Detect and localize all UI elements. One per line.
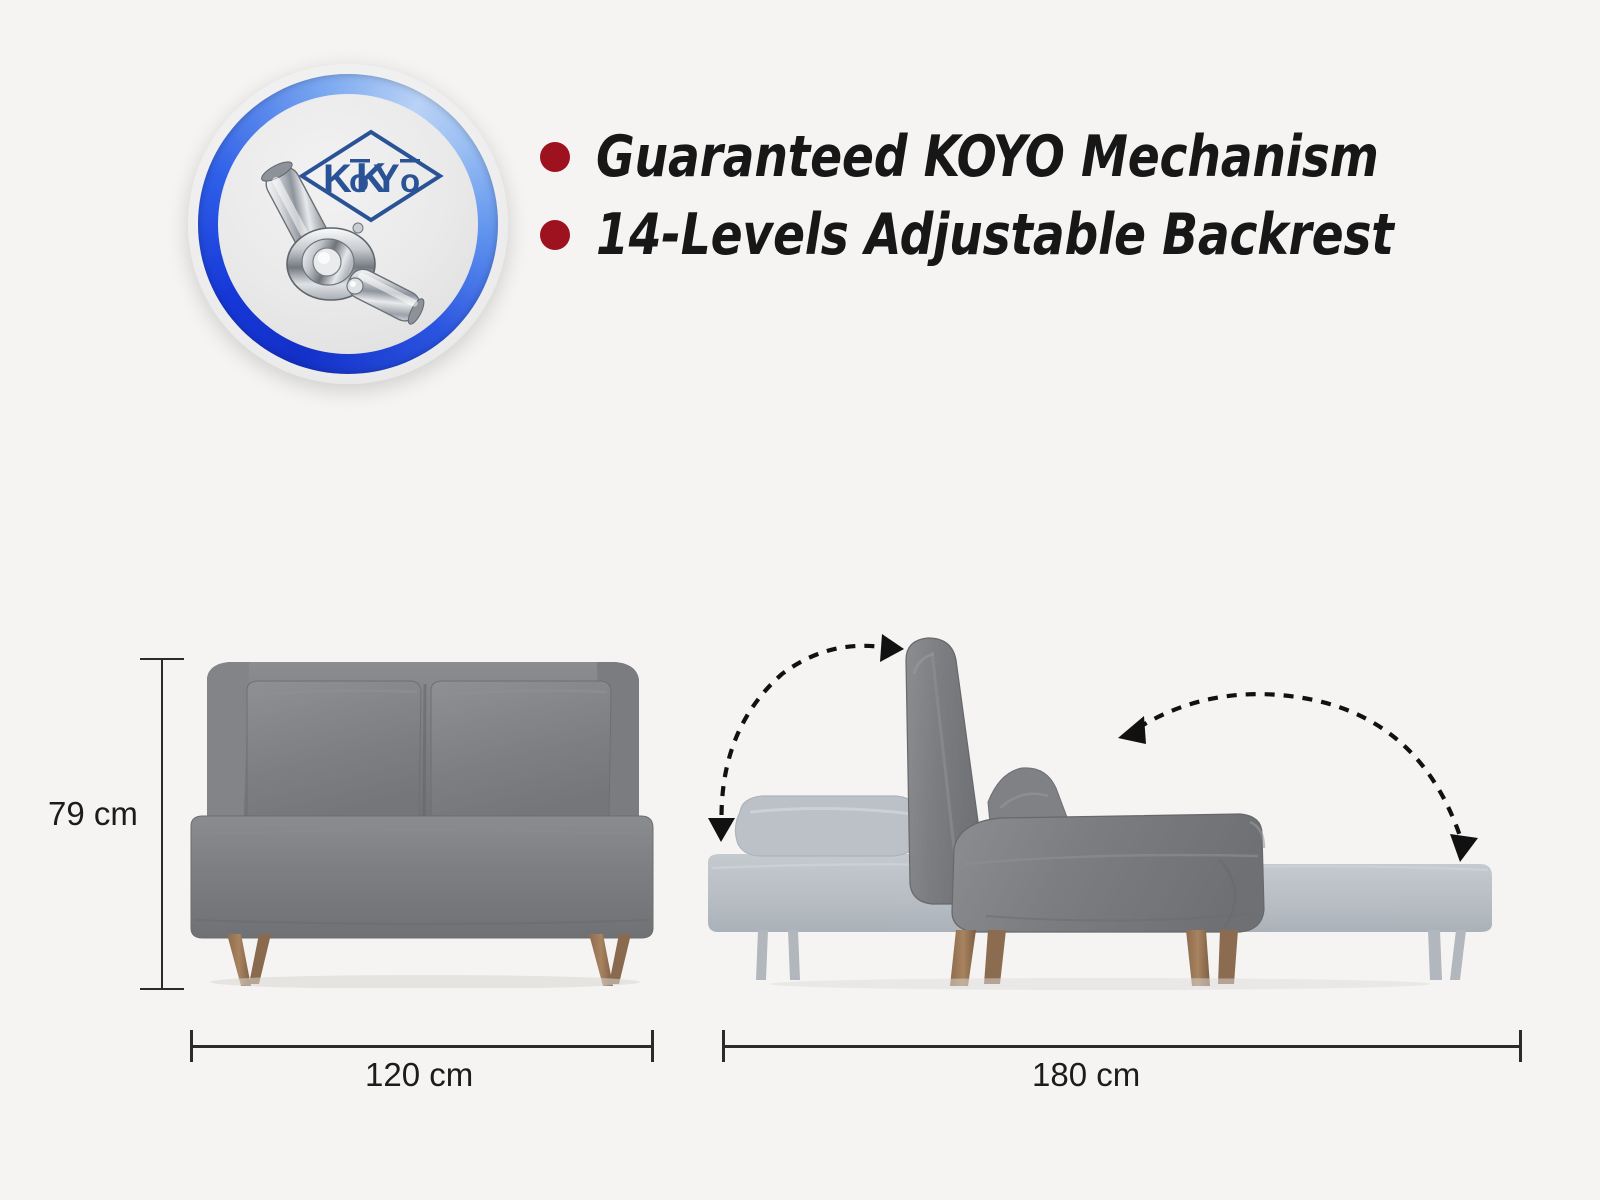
dimension-cap-right [1519,1030,1522,1062]
sofa-front-view-closed [185,648,660,988]
fold-down-arrow-left [690,612,920,842]
dimension-line-vertical [161,658,163,990]
feature-item-1: 14-Levels Adjustable Backrest [540,196,1360,274]
feature-label: Guaranteed KOYO Mechanism [596,129,1379,186]
dimension-line-horizontal [722,1045,1522,1048]
dimension-label-height: 79 cm [48,795,138,833]
dimension-label-width-closed: 120 cm [365,1056,473,1094]
feature-label: 14-Levels Adjustable Backrest [596,207,1394,264]
sofa-leg [950,930,976,986]
sofa-hinge-mechanism-icon [236,146,436,326]
fold-down-arrow-right [1096,676,1496,866]
bullet-dot-icon [540,220,570,250]
feature-list: Guaranteed KOYO Mechanism 14-Levels Adju… [540,118,1360,274]
dimension-label-width-open: 180 cm [1032,1056,1140,1094]
badge-inner-face: K K o Y o [218,94,478,354]
feature-item-0: Guaranteed KOYO Mechanism [540,118,1360,196]
bullet-dot-icon [540,142,570,172]
koyo-mechanism-badge: K K o Y o [188,64,508,384]
dimension-cap-bottom [140,988,184,990]
dimension-line-horizontal [190,1045,654,1048]
infographic-canvas: K K o Y o [0,0,1600,1200]
dimension-cap-right [651,1030,654,1062]
